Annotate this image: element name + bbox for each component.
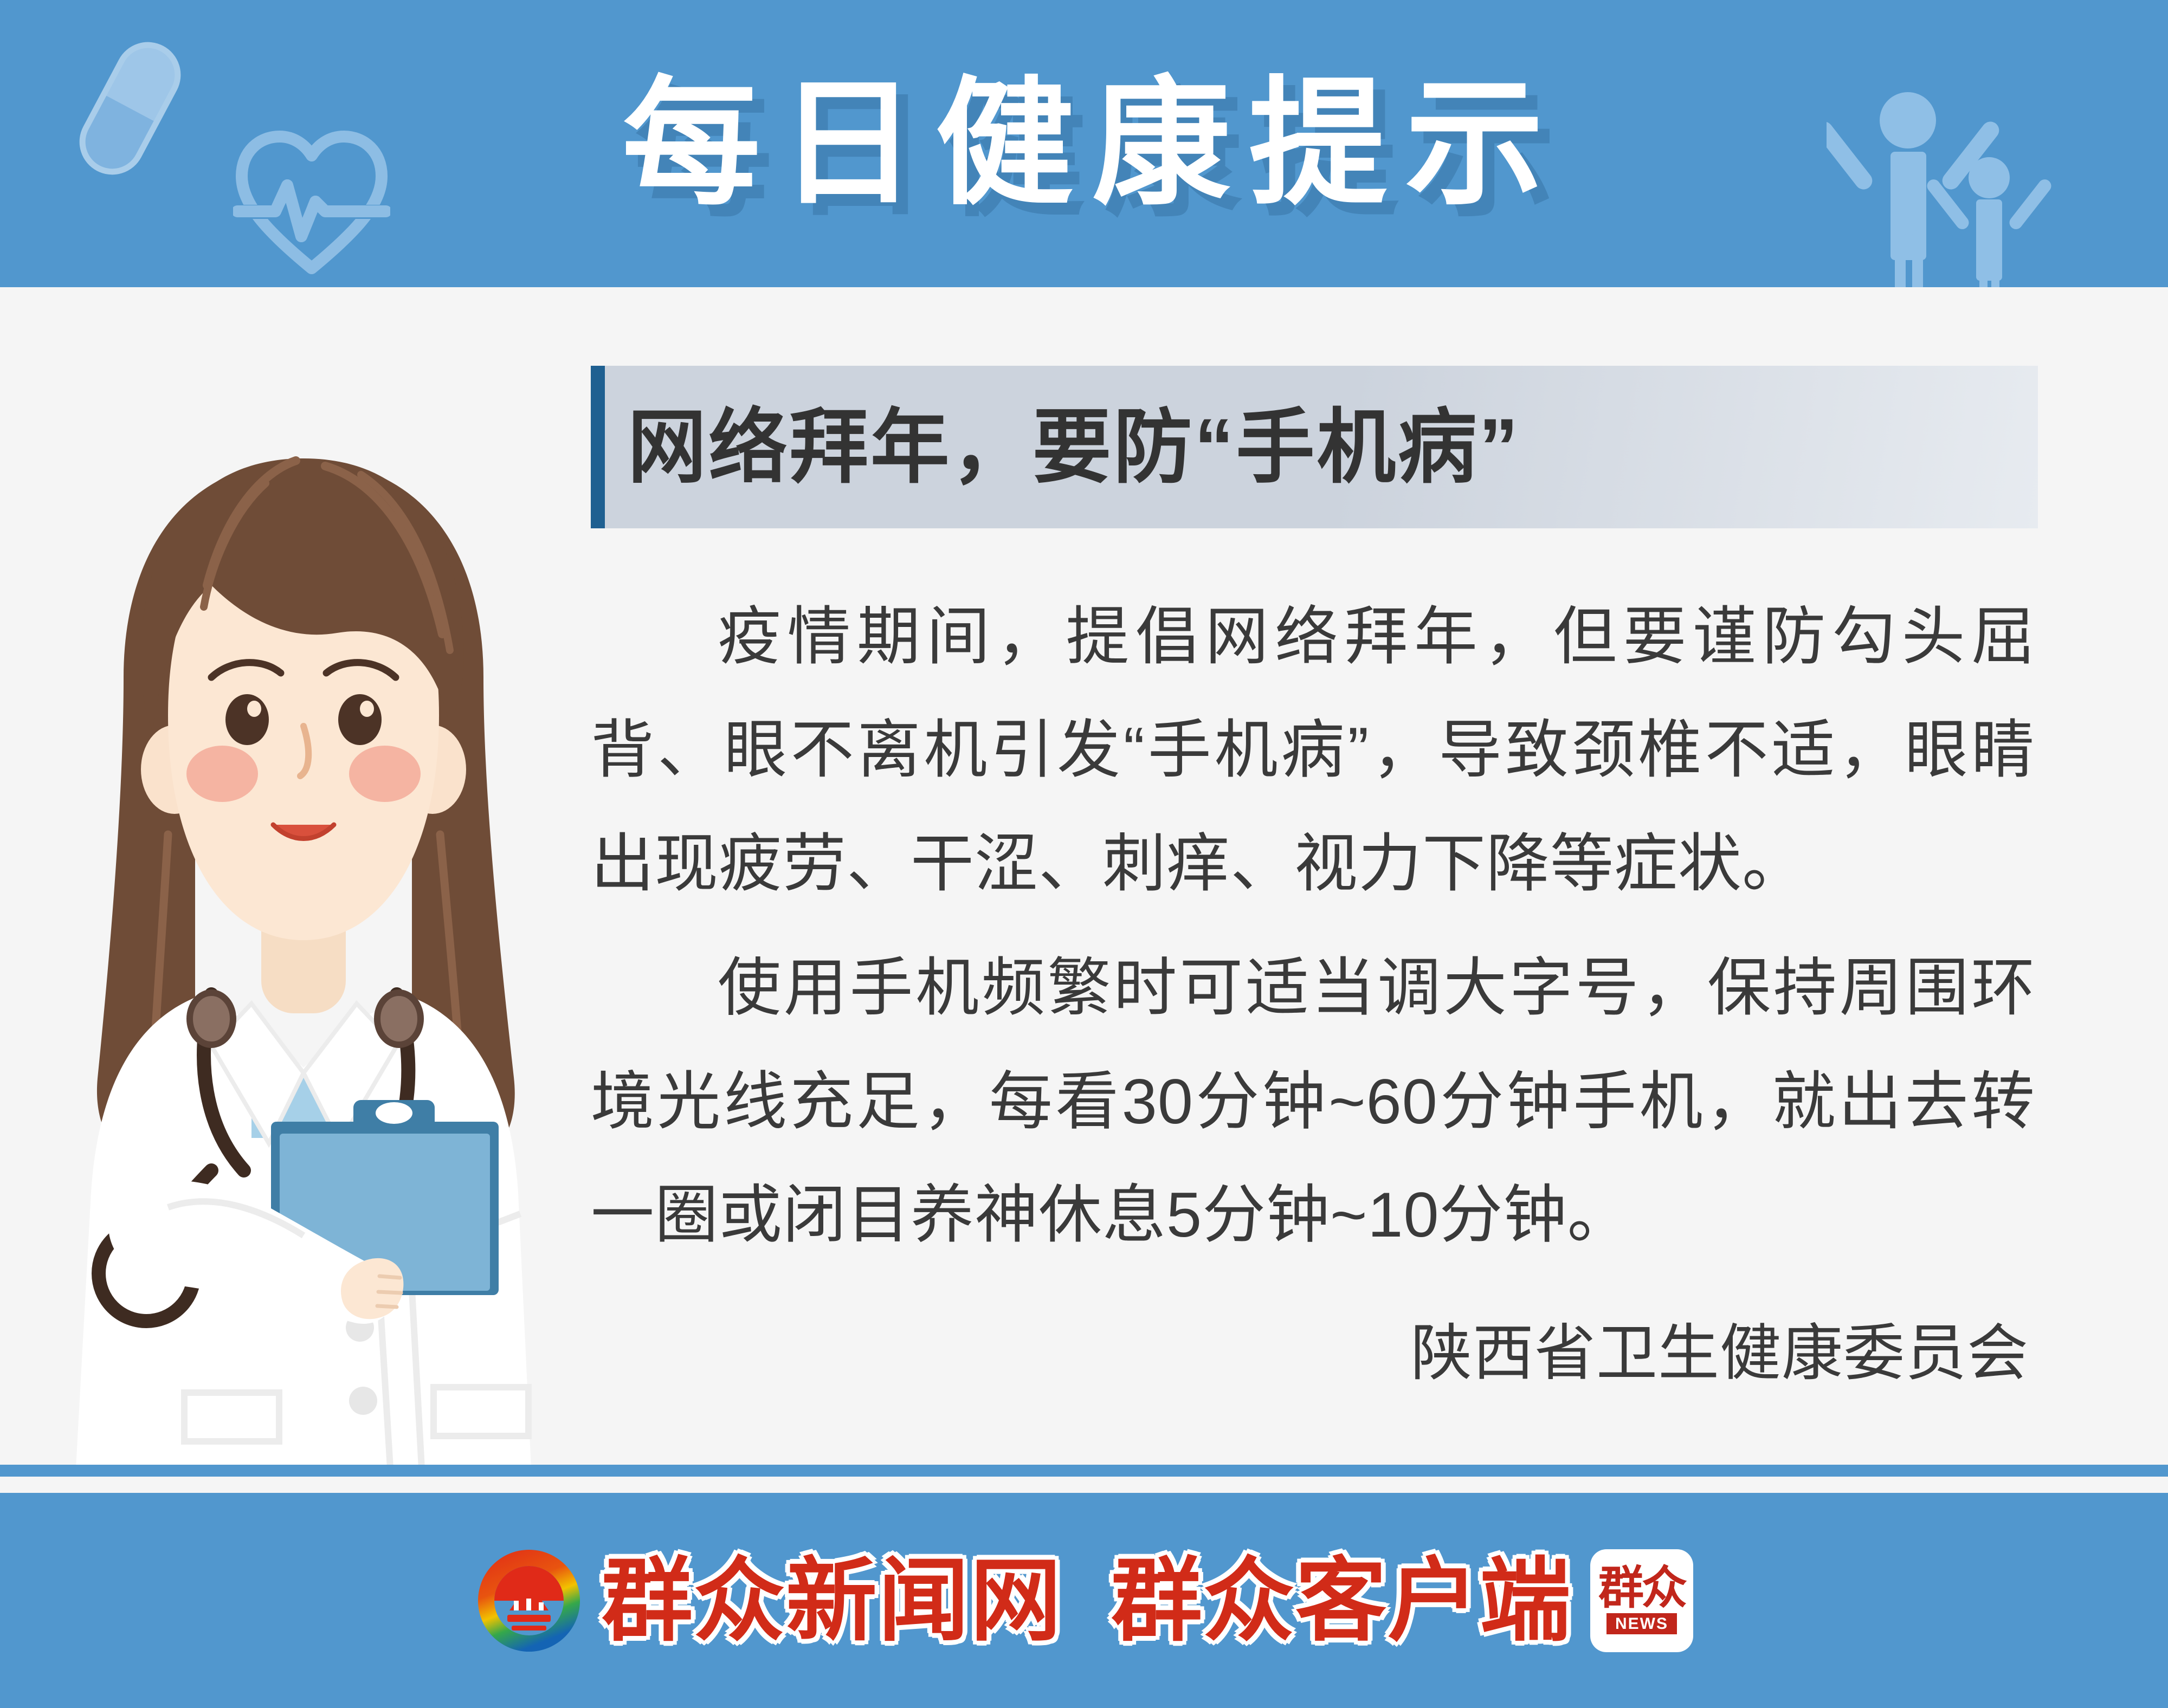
headline-band: 网络拜年，要防“手机病” xyxy=(591,366,2038,528)
poster-body: 网络拜年，要防“手机病” 疫情期间，提倡网络拜年，但要谨防勾头屈背、眼不离机引发… xyxy=(0,287,2168,1466)
logo-script-qunzhong-2: 群众 xyxy=(1111,1550,1295,1652)
poster-header: 每日健康提示 xyxy=(0,0,2168,287)
divider-gap xyxy=(0,1477,2168,1493)
logo-qunzhong-app[interactable]: 群众客户端 群众 NEWS xyxy=(1111,1549,1693,1652)
logo-text-qunzhong-news: 群众新闻网 xyxy=(602,1555,1062,1646)
logo-script-qunzhong: 群众 xyxy=(602,1550,786,1652)
page-title: 每日健康提示 xyxy=(0,0,2168,287)
content-column: 网络拜年，要防“手机病” 疫情期间，提倡网络拜年，但要谨防勾头屈背、眼不离机引发… xyxy=(591,366,2076,1392)
body-paragraph-2: 使用手机频繁时可适当调大字号，保持周围环境光线充足，每看30分钟~60分钟手机，… xyxy=(591,931,2035,1271)
app-icon[interactable]: 群众 NEWS xyxy=(1590,1549,1693,1652)
rainbow-circle-emblem xyxy=(475,1547,583,1655)
app-icon-script: 群众 xyxy=(1598,1567,1685,1610)
logo-text-qunzhong-app: 群众客户端 xyxy=(1111,1555,1572,1646)
health-tip-poster: 每日健康提示 xyxy=(0,0,2168,1708)
attribution-text: 陕西省卫生健康委员会 xyxy=(591,1303,2035,1392)
divider-stripe xyxy=(0,1465,2168,1477)
body-paragraph-1: 疫情期间，提倡网络拜年，但要谨防勾头屈背、眼不离机引发“手机病”，导致颈椎不适，… xyxy=(591,580,2035,920)
headline-text: 网络拜年，要防“手机病” xyxy=(591,406,1520,488)
logo-name-kehuduan: 客户端 xyxy=(1295,1550,1572,1652)
poster-footer: 群众新闻网 群众客户端 群众 NEWS xyxy=(0,1493,2168,1708)
logo-name-xinwenwang: 新闻网 xyxy=(786,1550,1062,1652)
app-icon-news-badge: NEWS xyxy=(1606,1613,1677,1634)
doctor-illustration xyxy=(33,423,575,1468)
logo-qunzhong-news-web[interactable]: 群众新闻网 xyxy=(475,1547,1062,1655)
